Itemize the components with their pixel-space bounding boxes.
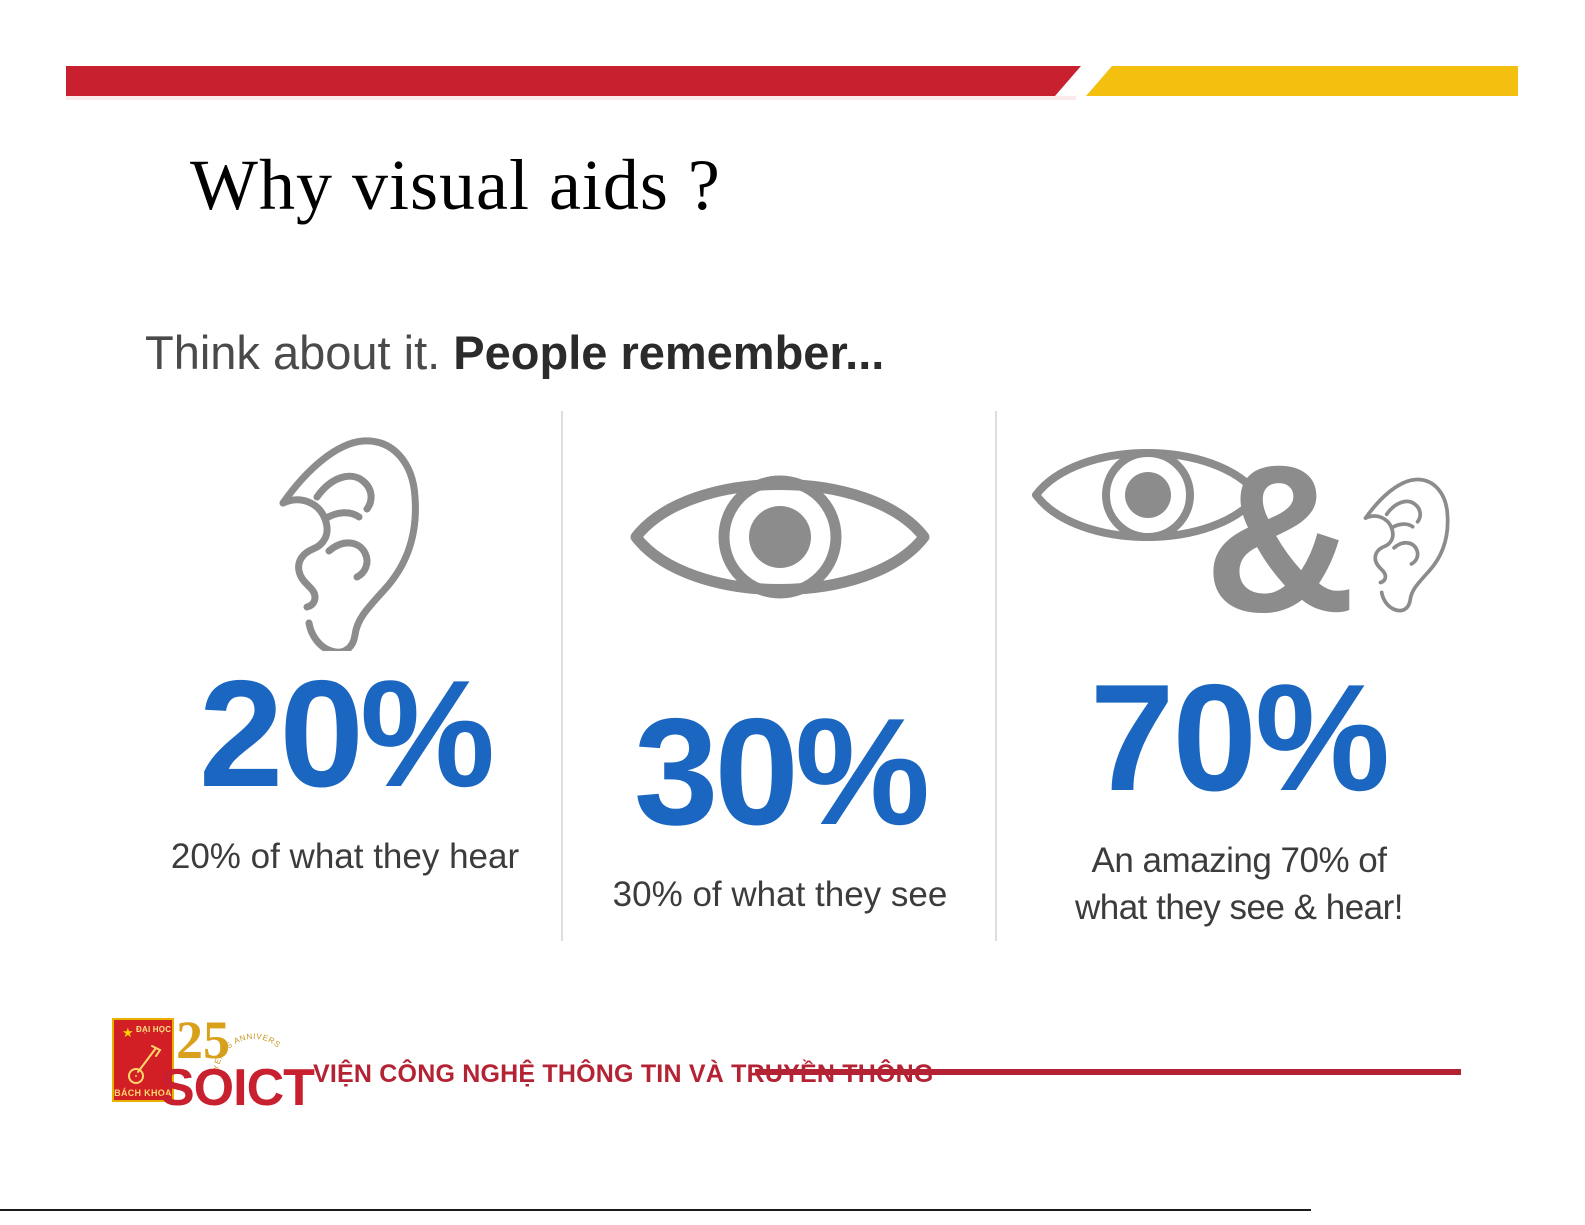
- header-bar-red-shadow: [66, 96, 1076, 100]
- stat-percent-see: 30%: [571, 697, 989, 847]
- ear-icon: [245, 411, 445, 651]
- slide-bottom-border: [0, 1209, 1311, 1211]
- eye-pupil: [1125, 472, 1171, 518]
- eye-icon-area: [571, 449, 989, 689]
- stat-column-hear: 20% 20% of what they hear: [135, 411, 555, 880]
- stat-caption-line-1: An amazing 70% of: [1003, 837, 1475, 884]
- stat-percent-see-and-hear: 70%: [1003, 663, 1475, 813]
- header-bar-red: [66, 66, 1081, 96]
- infographic: Think about it. People remember... 20%: [135, 315, 1475, 945]
- headline-light-text: Think about it.: [145, 326, 440, 379]
- stat-caption-hear: 20% of what they hear: [135, 833, 555, 880]
- badge-star-icon: ★: [122, 1026, 134, 1039]
- stat-caption-see-and-hear: An amazing 70% of what they see & hear!: [1003, 837, 1475, 931]
- soict-logo: ★ ĐẠI HỌC BÁCH KHOA 25: [112, 1010, 307, 1110]
- ear-glyph: [1366, 480, 1448, 611]
- torch-icon: [126, 1042, 164, 1086]
- eye-and-ear-icon-area: &: [1003, 415, 1475, 655]
- ampersand-glyph: &: [1204, 421, 1356, 655]
- column-divider: [995, 411, 997, 941]
- header-accent-bar: [66, 66, 1518, 96]
- slide-footer: ★ ĐẠI HỌC BÁCH KHOA 25: [0, 1000, 1585, 1120]
- header-bar-yellow: [1086, 66, 1518, 96]
- infographic-headline: Think about it. People remember...: [145, 323, 884, 383]
- column-divider: [561, 411, 563, 941]
- headline-bold-text: People remember...: [453, 326, 884, 379]
- slide-canvas: Why visual aids ? Think about it. People…: [0, 0, 1585, 1225]
- badge-top-label: ĐẠI HỌC: [136, 1025, 171, 1034]
- stat-column-see: 30% 30% of what they see: [571, 411, 989, 918]
- stat-column-see-and-hear: & 70% An amazing 70% of what they see & …: [1003, 411, 1475, 931]
- soict-wordmark: SOICT: [160, 1062, 314, 1114]
- footer-accent-line: [755, 1069, 1461, 1075]
- eye-and-ear-icon: &: [1024, 415, 1454, 655]
- stat-percent-hear: 20%: [135, 659, 555, 809]
- eye-icon: [620, 449, 940, 689]
- stat-caption-see: 30% of what they see: [571, 871, 989, 918]
- stat-caption-line-2: what they see & hear!: [1003, 884, 1475, 931]
- page-title: Why visual aids ?: [190, 141, 721, 229]
- ear-icon-area: [135, 411, 555, 651]
